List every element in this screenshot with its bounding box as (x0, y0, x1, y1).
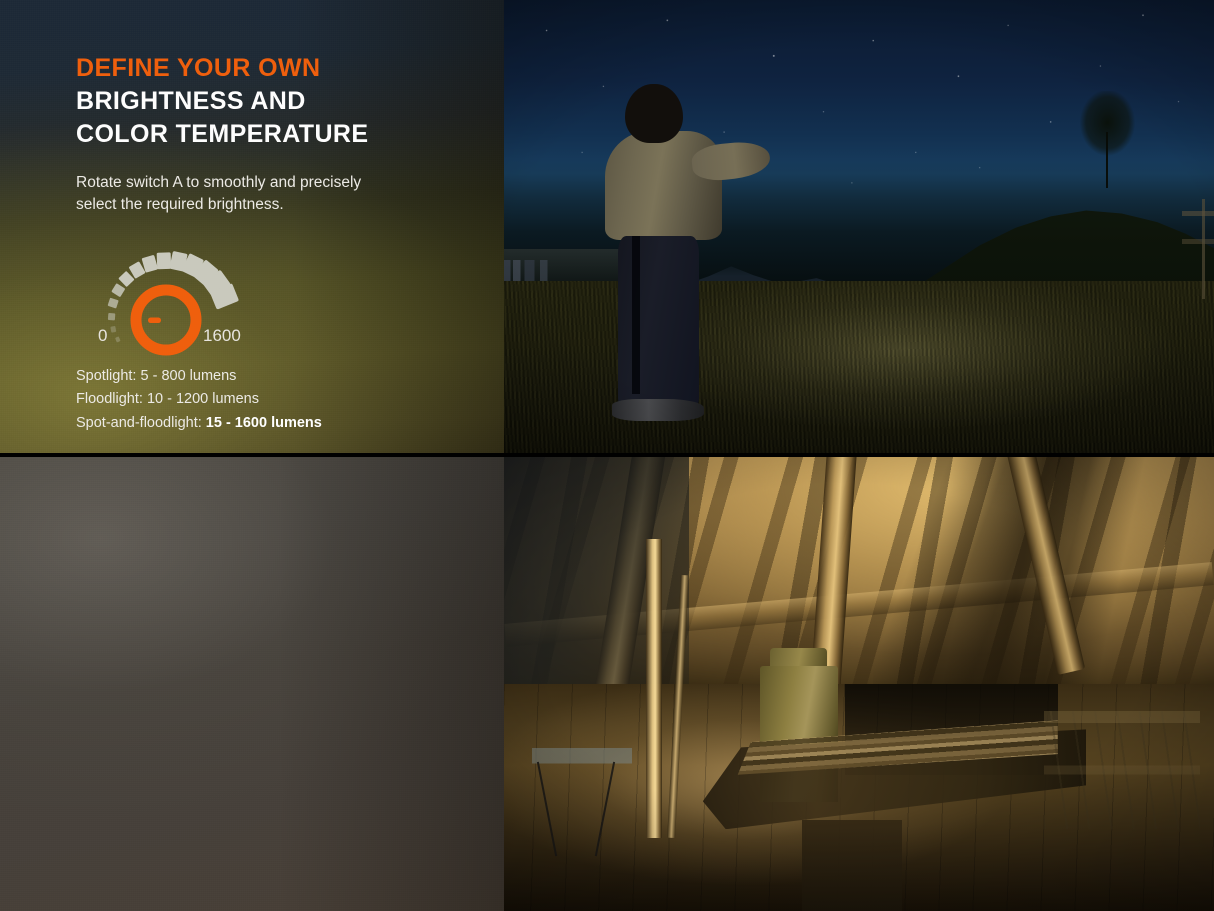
brightness-dial-indicator (148, 318, 161, 324)
workshop-scene-image (504, 457, 1214, 911)
color-temperature-info-panel: Rotary switch B offers simple one-handed… (0, 457, 504, 911)
spec-value-spot-and-floodlight: 15 - 1600 lumens (206, 415, 322, 431)
spec-label-spot-and-floodlight: Spot-and-floodlight: (76, 415, 206, 431)
workshop-scene-photo (504, 457, 1214, 911)
grain-overlay-bottom (0, 457, 504, 911)
product-feature-page: DEFINE YOUR OWN BRIGHTNESS AND COLOR TEM… (0, 0, 1214, 911)
brightness-spec-list: Spotlight: 5 - 800 lumens Floodlight: 10… (76, 365, 496, 435)
brightness-dial-max-label: 1600 (203, 326, 241, 345)
headline-line-2: BRIGHTNESS AND (76, 85, 496, 118)
spec-row-floodlight: Floodlight: 10 - 1200 lumens (76, 388, 496, 411)
spec-row-spotlight: Spotlight: 5 - 800 lumens (76, 365, 496, 388)
brightness-dial[interactable]: 0 1600 (88, 240, 278, 345)
brightness-intro-text: Rotate switch A to smoothly and precisel… (76, 172, 496, 216)
spec-label-spotlight: Spotlight: (76, 368, 141, 384)
brightness-info-panel: DEFINE YOUR OWN BRIGHTNESS AND COLOR TEM… (0, 0, 504, 453)
brightness-dial-ring (136, 290, 196, 350)
spec-value-spotlight: 5 - 800 lumens (141, 368, 237, 384)
brightness-intro-line-2: select the required brightness. (76, 194, 496, 216)
brightness-dial-graphic: 0 1600 (88, 240, 278, 345)
brightness-intro-line-1: Rotate switch A to smoothly and precisel… (76, 172, 496, 194)
brightness-content: DEFINE YOUR OWN BRIGHTNESS AND COLOR TEM… (76, 52, 496, 435)
headline-line-1: DEFINE YOUR OWN (76, 52, 496, 85)
brightness-dial-min-label: 0 (98, 326, 107, 345)
spec-value-floodlight: 10 - 1200 lumens (147, 391, 259, 407)
night-scene-image (504, 0, 1214, 453)
headline-block: DEFINE YOUR OWN BRIGHTNESS AND COLOR TEM… (76, 52, 496, 151)
headline-line-3: COLOR TEMPERATURE (76, 118, 496, 151)
spec-row-spot-and-floodlight: Spot-and-floodlight: 15 - 1600 lumens (76, 412, 496, 435)
night-scene-photo (504, 0, 1214, 453)
night-vignette (504, 0, 1214, 453)
workshop-vignette (504, 457, 1214, 911)
spec-label-floodlight: Floodlight: (76, 391, 147, 407)
